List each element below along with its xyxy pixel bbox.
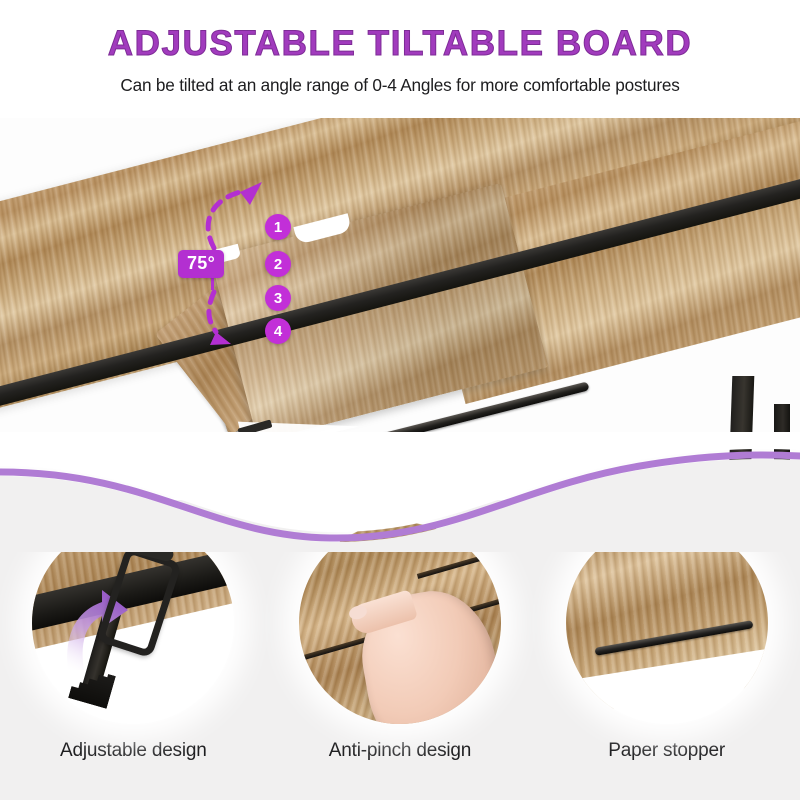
feature-caption-adjustable: Adjustable design — [60, 740, 207, 762]
feature-caption-paper-stopper: Paper stopper — [608, 740, 725, 762]
wave-divider — [0, 432, 800, 552]
feature-adjustable-design: Adjustable design — [8, 522, 258, 762]
header: ADJUSTABLE TILTABLE BOARD Can be tilted … — [0, 0, 800, 118]
feature-caption-anti-pinch: Anti-pinch design — [329, 740, 471, 762]
feature-image-paper-stopper — [566, 522, 768, 724]
page-subtitle: Can be tilted at an angle range of 0-4 A… — [120, 75, 679, 96]
feature-paper-stopper: Paper stopper — [542, 522, 792, 762]
feature-image-adjustable — [32, 522, 234, 724]
features-row: Adjustable design Anti-pinch design — [0, 522, 800, 762]
feature-image-anti-pinch — [299, 522, 501, 724]
feature-anti-pinch-design: Anti-pinch design — [275, 522, 525, 762]
page-title: ADJUSTABLE TILTABLE BOARD — [108, 26, 692, 63]
product-infographic: ADJUSTABLE TILTABLE BOARD Can be tilted … — [0, 0, 800, 800]
